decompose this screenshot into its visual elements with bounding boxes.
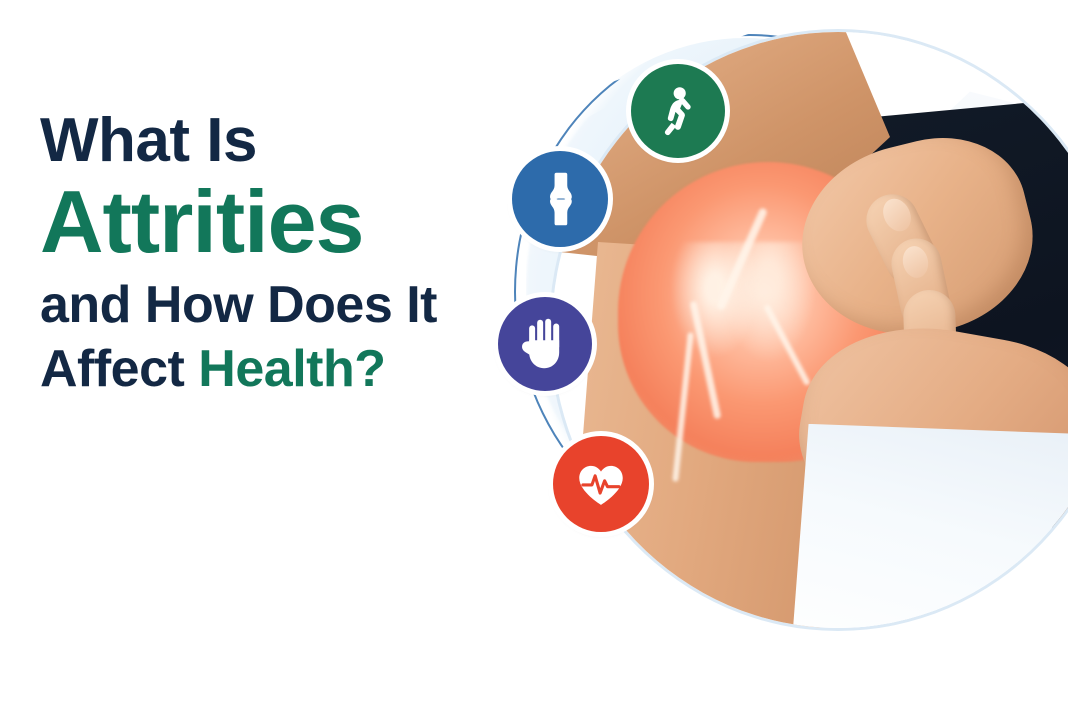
illustration-composition: Walking Joint Hand — [498, 24, 1068, 634]
headline-line-4: Affect Health? — [40, 338, 510, 400]
knee-joint-icon[interactable]: Joint — [512, 151, 608, 247]
knee-bone-glow — [670, 242, 820, 452]
headline-line-4-navy: Affect — [40, 340, 198, 398]
headline-line-2: Attrities — [40, 174, 510, 270]
walking-person-icon[interactable]: Walking — [631, 64, 725, 158]
heart-pulse-icon[interactable]: Heart — [553, 436, 649, 532]
photo-inner — [552, 32, 1068, 628]
headline-line-3: and How Does It — [40, 274, 510, 336]
page-title: What Is Attrities and How Does It Affect… — [40, 106, 510, 400]
hand-icon[interactable]: Hand — [498, 297, 592, 391]
knee-pain-photo — [552, 32, 1068, 628]
headline-line-1: What Is — [40, 106, 510, 176]
banner-canvas: What Is Attrities and How Does It Affect… — [0, 0, 1068, 712]
headline-line-4-green: Health? — [198, 340, 385, 398]
